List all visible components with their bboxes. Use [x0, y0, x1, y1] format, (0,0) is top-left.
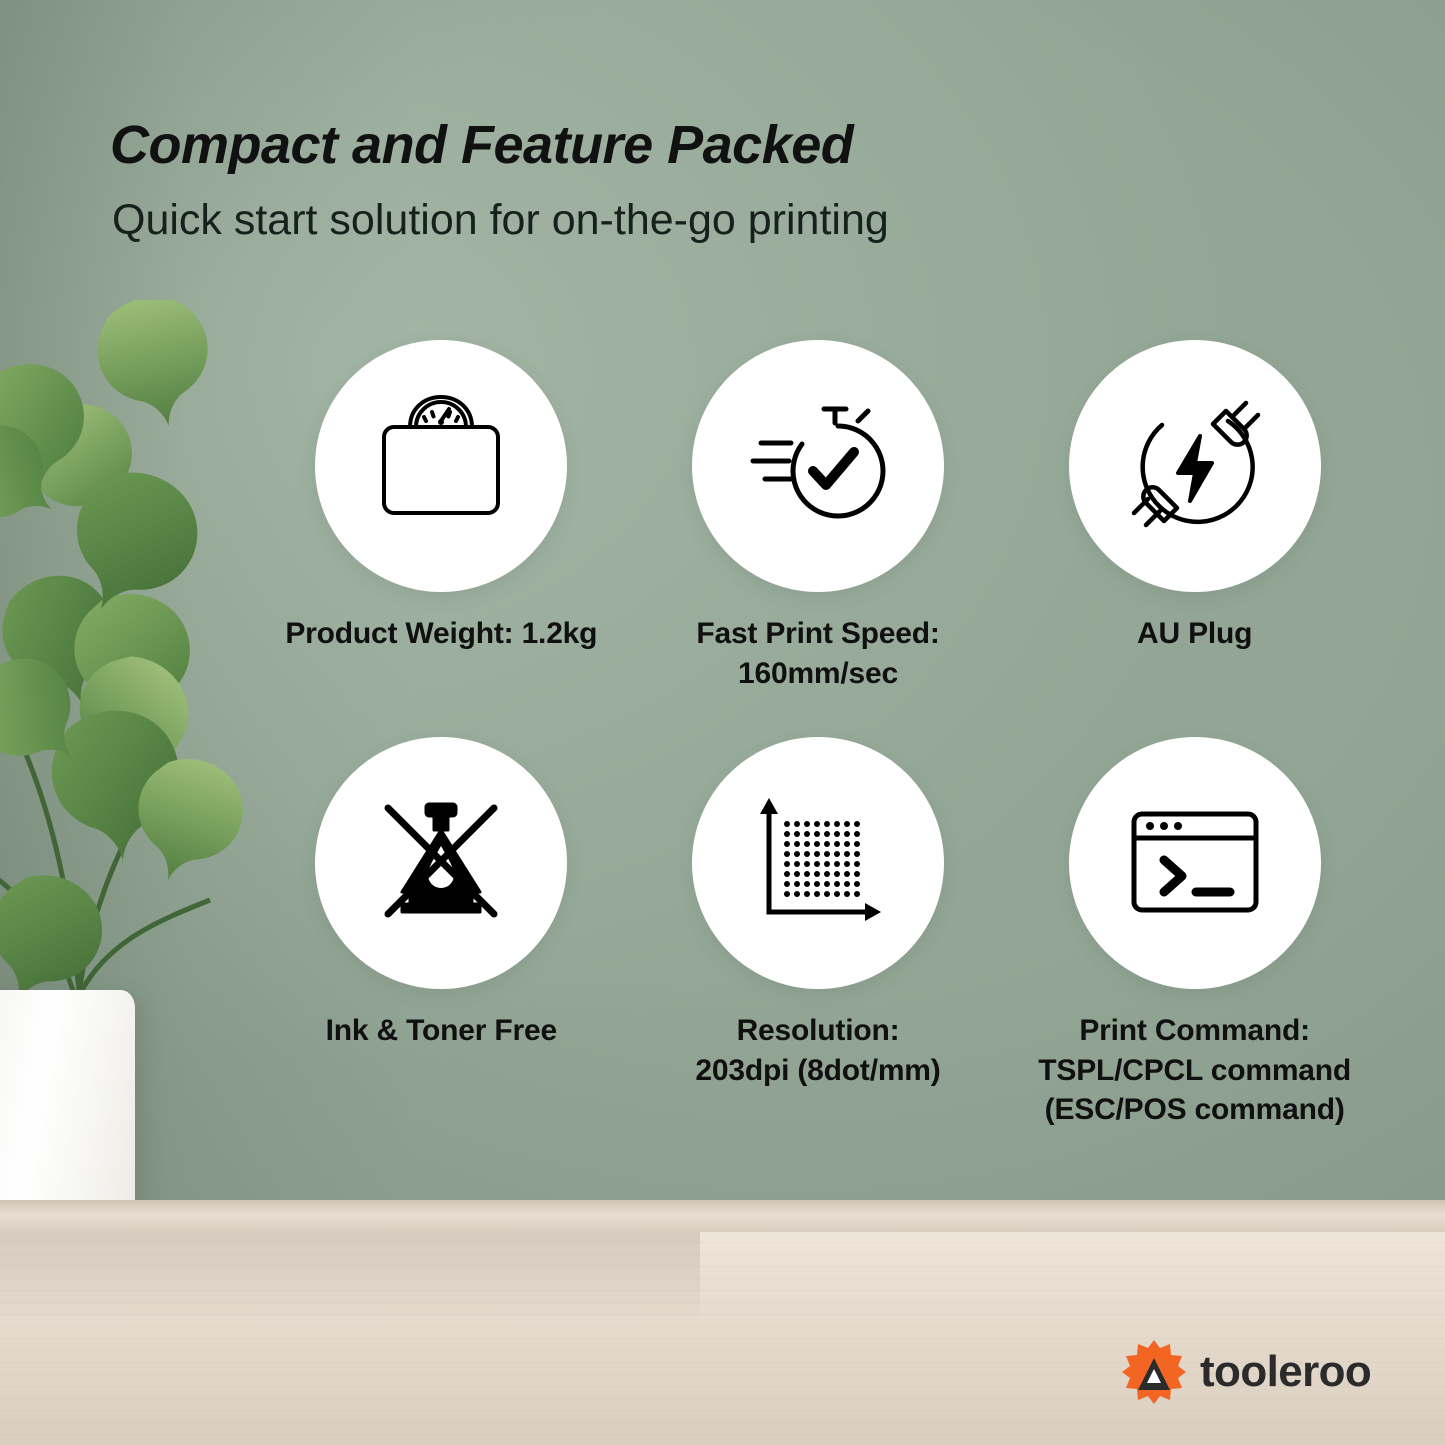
feature-item-print-speed: Fast Print Speed:160mm/sec [635, 340, 1002, 693]
dot-matrix-resolution-icon [743, 788, 893, 938]
tooleroo-gear-icon [1120, 1338, 1188, 1406]
feature-caption: Fast Print Speed:160mm/sec [696, 614, 939, 693]
power-plug-bolt-icon [1120, 391, 1270, 541]
terminal-command-icon [1120, 788, 1270, 938]
skirting-board [0, 1200, 1445, 1236]
feature-item-print-command: Print Command:TSPL/CPCL command(ESC/POS … [1011, 737, 1378, 1130]
feature-item-weight: Product Weight: 1.2kg [258, 340, 625, 693]
no-ink-toner-icon [366, 788, 516, 938]
feature-caption: Print Command:TSPL/CPCL command(ESC/POS … [1038, 1011, 1351, 1130]
table-shadow [0, 1232, 700, 1322]
fast-stopwatch-check-icon [743, 391, 893, 541]
feature-caption: AU Plug [1137, 614, 1252, 654]
feature-item-resolution: Resolution:203dpi (8dot/mm) [635, 737, 1002, 1130]
feature-item-ink-toner-free: Ink & Toner Free [258, 737, 625, 1130]
feature-item-au-plug: AU Plug [1011, 340, 1378, 693]
feature-badge [1069, 737, 1321, 989]
brand-logo: tooleroo [1120, 1338, 1371, 1406]
page-title: Compact and Feature Packed [110, 114, 853, 176]
feature-grid: Product Weight: 1.2kg Fast Print Speed:1… [258, 340, 1378, 1130]
feature-caption: Resolution:203dpi (8dot/mm) [695, 1011, 940, 1090]
feature-badge [315, 737, 567, 989]
feature-badge [692, 737, 944, 989]
product-infographic-poster: Compact and Feature Packed Quick start s… [0, 0, 1445, 1445]
feature-caption: Product Weight: 1.2kg [285, 614, 597, 654]
feature-badge [692, 340, 944, 592]
feature-badge [1069, 340, 1321, 592]
weight-scale-icon [366, 391, 516, 541]
feature-caption: Ink & Toner Free [326, 1011, 557, 1051]
page-subtitle: Quick start solution for on-the-go print… [112, 196, 889, 245]
feature-badge [315, 340, 567, 592]
brand-name: tooleroo [1200, 1347, 1371, 1397]
